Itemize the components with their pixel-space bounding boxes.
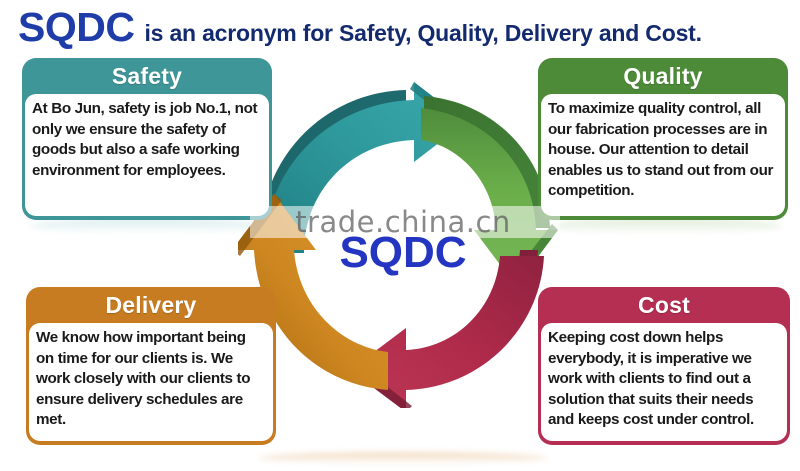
sqdc-infographic: SQDCis an acronym for Safety, Quality, D… — [0, 0, 800, 471]
headline-acronym: SQDC — [18, 4, 134, 50]
card-safety-title: Safety — [22, 61, 272, 94]
card-safety[interactable]: Safety At Bo Jun, safety is job No.1, no… — [22, 58, 272, 220]
card-safety-text: At Bo Jun, safety is job No.1, not only … — [25, 94, 269, 216]
bottom-reflection — [258, 452, 548, 464]
page-title: SQDCis an acronym for Safety, Quality, D… — [18, 4, 788, 50]
card-cost-text: Keeping cost down helps everybody, it is… — [541, 323, 787, 441]
sqdc-cycle-diagram — [238, 78, 568, 408]
card-cost[interactable]: Cost Keeping cost down helps everybody, … — [538, 287, 790, 445]
card-delivery[interactable]: Delivery We know how important being on … — [26, 287, 276, 445]
card-quality-text: To maximize quality control, all our fab… — [541, 94, 785, 216]
card-cost-title: Cost — [538, 290, 790, 323]
card-quality-title: Quality — [538, 61, 788, 94]
card-quality[interactable]: Quality To maximize quality control, all… — [538, 58, 788, 220]
card-delivery-text: We know how important being on time for … — [29, 323, 273, 441]
card-delivery-title: Delivery — [26, 290, 276, 323]
quality-card-reflection — [546, 218, 782, 234]
safety-card-reflection — [30, 218, 266, 234]
headline-rest: is an acronym for Safety, Quality, Deliv… — [144, 20, 701, 46]
